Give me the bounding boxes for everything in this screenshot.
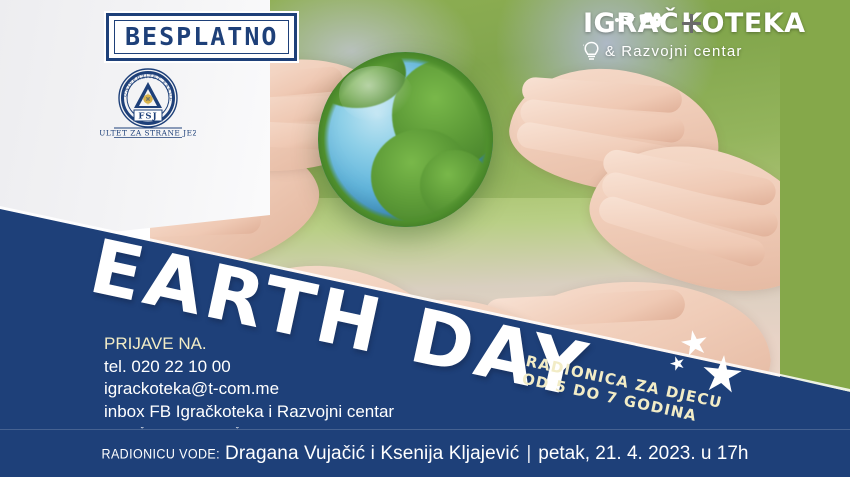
logo-sparkle-decor xyxy=(613,6,671,32)
globe-highlight xyxy=(339,66,413,122)
lightbulb-icon xyxy=(583,41,600,62)
faculty-seal-logo: FSJ UNIVERZITET FAKULTET ZA STRANE JEZIK… xyxy=(100,66,196,138)
contact-heading: PRIJAVE NA. xyxy=(104,333,394,356)
contact-email[interactable]: igrackoteka@t-com.me xyxy=(104,378,394,401)
free-badge-inner-frame: BESPLATNO xyxy=(114,20,289,54)
brand-logo-subtitle: Razvojni centar xyxy=(621,43,742,60)
brand-logo-ampersand: & xyxy=(605,43,616,60)
contact-facebook[interactable]: inbox FB Igračkoteka i Razvojni centar xyxy=(104,401,394,424)
free-badge: BESPLATNO xyxy=(106,13,297,61)
contact-block: PRIJAVE NA. tel. 020 22 10 00 igrackotek… xyxy=(104,333,394,439)
contact-phone: tel. 020 22 10 00 xyxy=(104,356,394,379)
svg-text:FAKULTET ZA STRANE JEZIKE: FAKULTET ZA STRANE JEZIKE xyxy=(100,129,196,138)
free-badge-label: BESPLATNO xyxy=(125,24,278,49)
earth-globe xyxy=(318,52,493,227)
svg-text:FSJ: FSJ xyxy=(138,112,157,122)
footer-datetime: petak, 21. 4. 2023. u 17h xyxy=(538,443,748,465)
footer-presenters: Dragana Vujačić i Ksenija Kljajević xyxy=(225,443,519,465)
footer-bar: RADIONICU VODE: Dragana Vujačić i Ksenij… xyxy=(0,429,850,477)
poster: BESPLATNO FSJ UNIVERZITET FAKULTET ZA ST… xyxy=(0,0,850,477)
brand-logo: IGRAČKOTEKA & Razvojni centar xyxy=(583,10,748,92)
footer-prefix: RADIONICU VODE: xyxy=(102,446,221,461)
footer-separator: | xyxy=(526,443,531,465)
brand-logo-subtitle-row: & Razvojni centar xyxy=(583,41,748,62)
